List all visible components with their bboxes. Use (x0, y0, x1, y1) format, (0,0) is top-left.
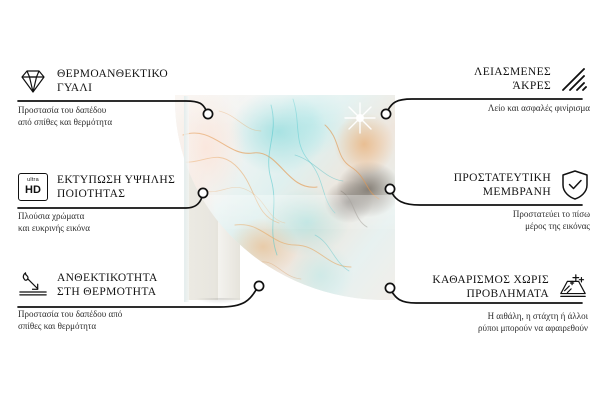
diamond-icon (18, 66, 48, 96)
sponge-sparkle-icon (558, 272, 588, 302)
flame-heat-resistance-icon (18, 270, 48, 300)
polished-edges-icon (560, 64, 590, 94)
ultra-label: ultra (27, 178, 39, 184)
feature-title: ΕΚΤΥΠΩΣΗ ΥΨΗΛΗΣ ΠΟΙΟΤΗΤΑΣ (57, 173, 175, 201)
feature-heat-resistant-glass: ΘΕΡΜΟΑΝΘΕΚΤΙΚΟ ΓΥΑΛΙ Προστασία του δαπέδ… (18, 64, 206, 128)
hd-label: HD (25, 185, 41, 196)
feature-description: Προστασία του δαπέδου από σπίθες και θερ… (18, 105, 206, 128)
feature-title: ΠΡΟΣΤΑΤΕΥΤΙΚΗ ΜΕΜΒΡΑΝΗ (454, 171, 551, 199)
feature-title: ΑΝΘΕΚΤΙΚΟΤΗΤΑ ΣΤΗ ΘΕΡΜΟΤΗΤΑ (57, 271, 158, 299)
feature-heat-resistance: ΑΝΘΕΚΤΙΚΟΤΗΤΑ ΣΤΗ ΘΕΡΜΟΤΗΤΑ Προστασία το… (18, 268, 206, 332)
marble-veins (175, 95, 395, 300)
feature-description: Λείο και ασφαλές φινίρισμα (394, 103, 590, 115)
ultra-hd-badge-icon: ultra HD (18, 172, 48, 202)
feature-easy-cleaning: ΚΑΘΑΡΙΣΜΟΣ ΧΩΡΙΣ ΠΡΟΒΛΗΜΑΤΑ Η αιθάλη, η … (392, 270, 588, 334)
feature-description: Προστατεύει το πίσω μέρος της εικόνας (394, 209, 590, 232)
glass-arc-panel (175, 95, 395, 300)
feature-description: Πλούσια χρώματα και ευκρινής εικόνα (18, 211, 206, 234)
feature-description: Η αιθάλη, η στάχτη ή άλλοι ρύποι μπορούν… (392, 311, 588, 334)
feature-title: ΚΑΘΑΡΙΣΜΟΣ ΧΩΡΙΣ ΠΡΟΒΛΗΜΑΤΑ (432, 273, 549, 301)
product-image (175, 95, 425, 310)
shield-check-icon (560, 170, 590, 200)
infographic-page: ΘΕΡΜΟΑΝΘΕΚΤΙΚΟ ΓΥΑΛΙ Προστασία του δαπέδ… (0, 0, 600, 400)
feature-title: ΛΕΙΑΣΜΕΝΕΣ ΆΚΡΕΣ (474, 65, 551, 93)
feature-high-quality-print: ultra HD ΕΚΤΥΠΩΣΗ ΥΨΗΛΗΣ ΠΟΙΟΤΗΤΑΣ Πλούσ… (18, 170, 206, 234)
feature-description: Προστασία του δαπέδου από σπίθες και θερ… (18, 309, 206, 332)
feature-protective-membrane: ΠΡΟΣΤΑΤΕΥΤΙΚΗ ΜΕΜΒΡΑΝΗ Προστατεύει το πί… (394, 168, 590, 232)
feature-title: ΘΕΡΜΟΑΝΘΕΚΤΙΚΟ ΓΥΑΛΙ (57, 67, 168, 95)
feature-polished-edges: ΛΕΙΑΣΜΕΝΕΣ ΆΚΡΕΣ Λείο και ασφαλές φινίρι… (394, 62, 590, 115)
